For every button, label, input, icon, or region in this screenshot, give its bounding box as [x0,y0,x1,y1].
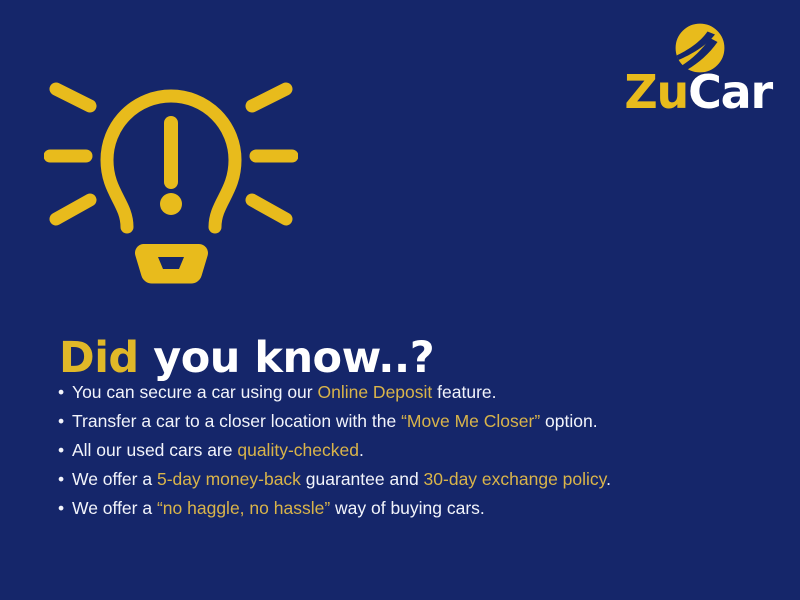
fact-text: We offer a [72,469,157,489]
brand-word-car: Car [688,65,772,119]
fact-item: •All our used cars are quality-checked. [58,436,770,465]
fact-text: All our used cars are [72,440,237,460]
fact-highlight: Online Deposit [317,382,432,402]
fact-text: Transfer a car to a closer location with… [72,411,401,431]
slide-canvas: ZuCar Did you know..? [0,0,800,600]
facts-list: •You can secure a car using our Online D… [58,378,770,523]
fact-text: We offer a [72,498,157,518]
fact-highlight: quality-checked [237,440,359,460]
fact-text: way of buying cars. [330,498,485,518]
fact-highlight: “Move Me Closer” [401,411,540,431]
fact-highlight: 5-day money-back [157,469,301,489]
page-title: Did you know..? [59,332,434,384]
bullet-dot-icon: • [58,465,64,494]
fact-text: guarantee and [301,469,424,489]
brand-wordmark: ZuCar [582,66,772,118]
fact-highlight: “no haggle, no hassle” [157,498,330,518]
fact-text: option. [540,411,597,431]
fact-item: •Transfer a car to a closer location wit… [58,407,770,436]
page-title-rest: you know..? [139,333,434,383]
fact-text: You can secure a car using our [72,382,317,402]
bullet-dot-icon: • [58,494,64,523]
fact-text: . [359,440,364,460]
bullet-dot-icon: • [58,436,64,465]
fact-highlight: 30-day exchange policy [424,469,607,489]
fact-item: •You can secure a car using our Online D… [58,378,770,407]
page-title-accent: Did [59,333,139,383]
brand-word-zu: Zu [624,65,688,119]
bullet-dot-icon: • [58,407,64,436]
fact-text: . [606,469,611,489]
bullet-dot-icon: • [58,378,64,407]
fact-item: •We offer a 5-day money-back guarantee a… [58,465,770,494]
lightbulb-exclamation-icon [44,72,298,287]
fact-item: •We offer a “no haggle, no hassle” way o… [58,494,770,523]
brand-logo: ZuCar [582,22,772,118]
fact-text: feature. [432,382,496,402]
